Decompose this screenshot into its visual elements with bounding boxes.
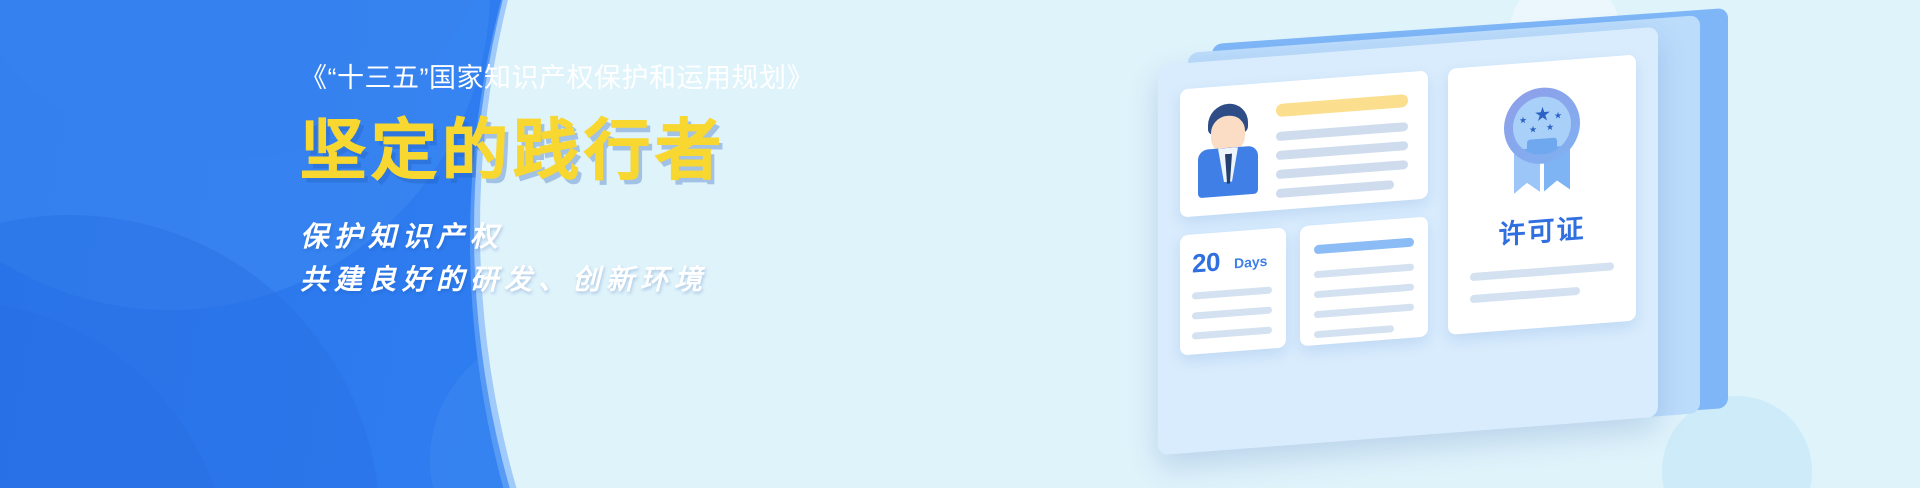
days-unit-label: Days — [1234, 253, 1267, 272]
profile-text-line — [1276, 180, 1394, 198]
medal-star-icon: ★ — [1546, 123, 1554, 133]
banner-subtitle-group: 保护知识产权 共建良好的研发、创新环境 — [300, 216, 1020, 303]
profile-card — [1180, 70, 1428, 217]
days-number: 20 — [1192, 246, 1220, 279]
days-text-line — [1192, 286, 1272, 299]
lines-card-text-line — [1314, 264, 1414, 279]
banner-headline: 坚定的践行者 — [300, 116, 1020, 185]
license-text-line — [1470, 287, 1580, 303]
medal-star-icon: ★ — [1519, 116, 1527, 126]
banner-subtitle-line-2: 共建良好的研发、创新环境 — [300, 259, 1020, 302]
background-blob-bottom-left-2 — [0, 300, 230, 488]
medal-star-icon: ★ — [1529, 125, 1537, 135]
license-text-line — [1470, 262, 1614, 281]
text-lines-card — [1300, 216, 1428, 346]
lines-card-text-line — [1314, 304, 1414, 319]
medal-star-icon: ★ — [1554, 111, 1562, 121]
license-certificate-card: ★ ★ ★ ★ ★ 许可证 — [1448, 54, 1636, 334]
profile-text-line — [1276, 141, 1408, 160]
award-medal-icon: ★ ★ ★ ★ ★ — [1494, 82, 1590, 195]
banner-text-block: 《“十三五”国家知识产权保护和运用规划》 坚定的践行者 保护知识产权 共建良好的… — [300, 62, 1020, 302]
license-label: 许可证 — [1448, 202, 1636, 255]
person-avatar-icon — [1196, 101, 1260, 198]
lines-card-text-line — [1314, 325, 1394, 338]
profile-title-bar — [1276, 94, 1408, 117]
profile-text-line — [1276, 122, 1408, 141]
profile-text-line — [1276, 160, 1408, 179]
days-counter-card: 20 Days — [1180, 227, 1286, 355]
sheet-content: 20 Days — [1158, 27, 1658, 455]
banner-subtitle-line-1: 保护知识产权 — [300, 216, 1020, 259]
banner-kicker: 《“十三五”国家知识产权保护和运用规划》 — [300, 62, 1020, 94]
document-stack-illustration: 20 Days — [1158, 26, 1748, 446]
ip-protection-banner: 《“十三五”国家知识产权保护和运用规划》 坚定的践行者 保护知识产权 共建良好的… — [0, 0, 1920, 488]
days-text-line — [1192, 306, 1272, 319]
lines-card-text-line — [1314, 284, 1414, 299]
lines-card-highlight-bar — [1314, 238, 1414, 255]
days-text-line — [1192, 326, 1272, 339]
